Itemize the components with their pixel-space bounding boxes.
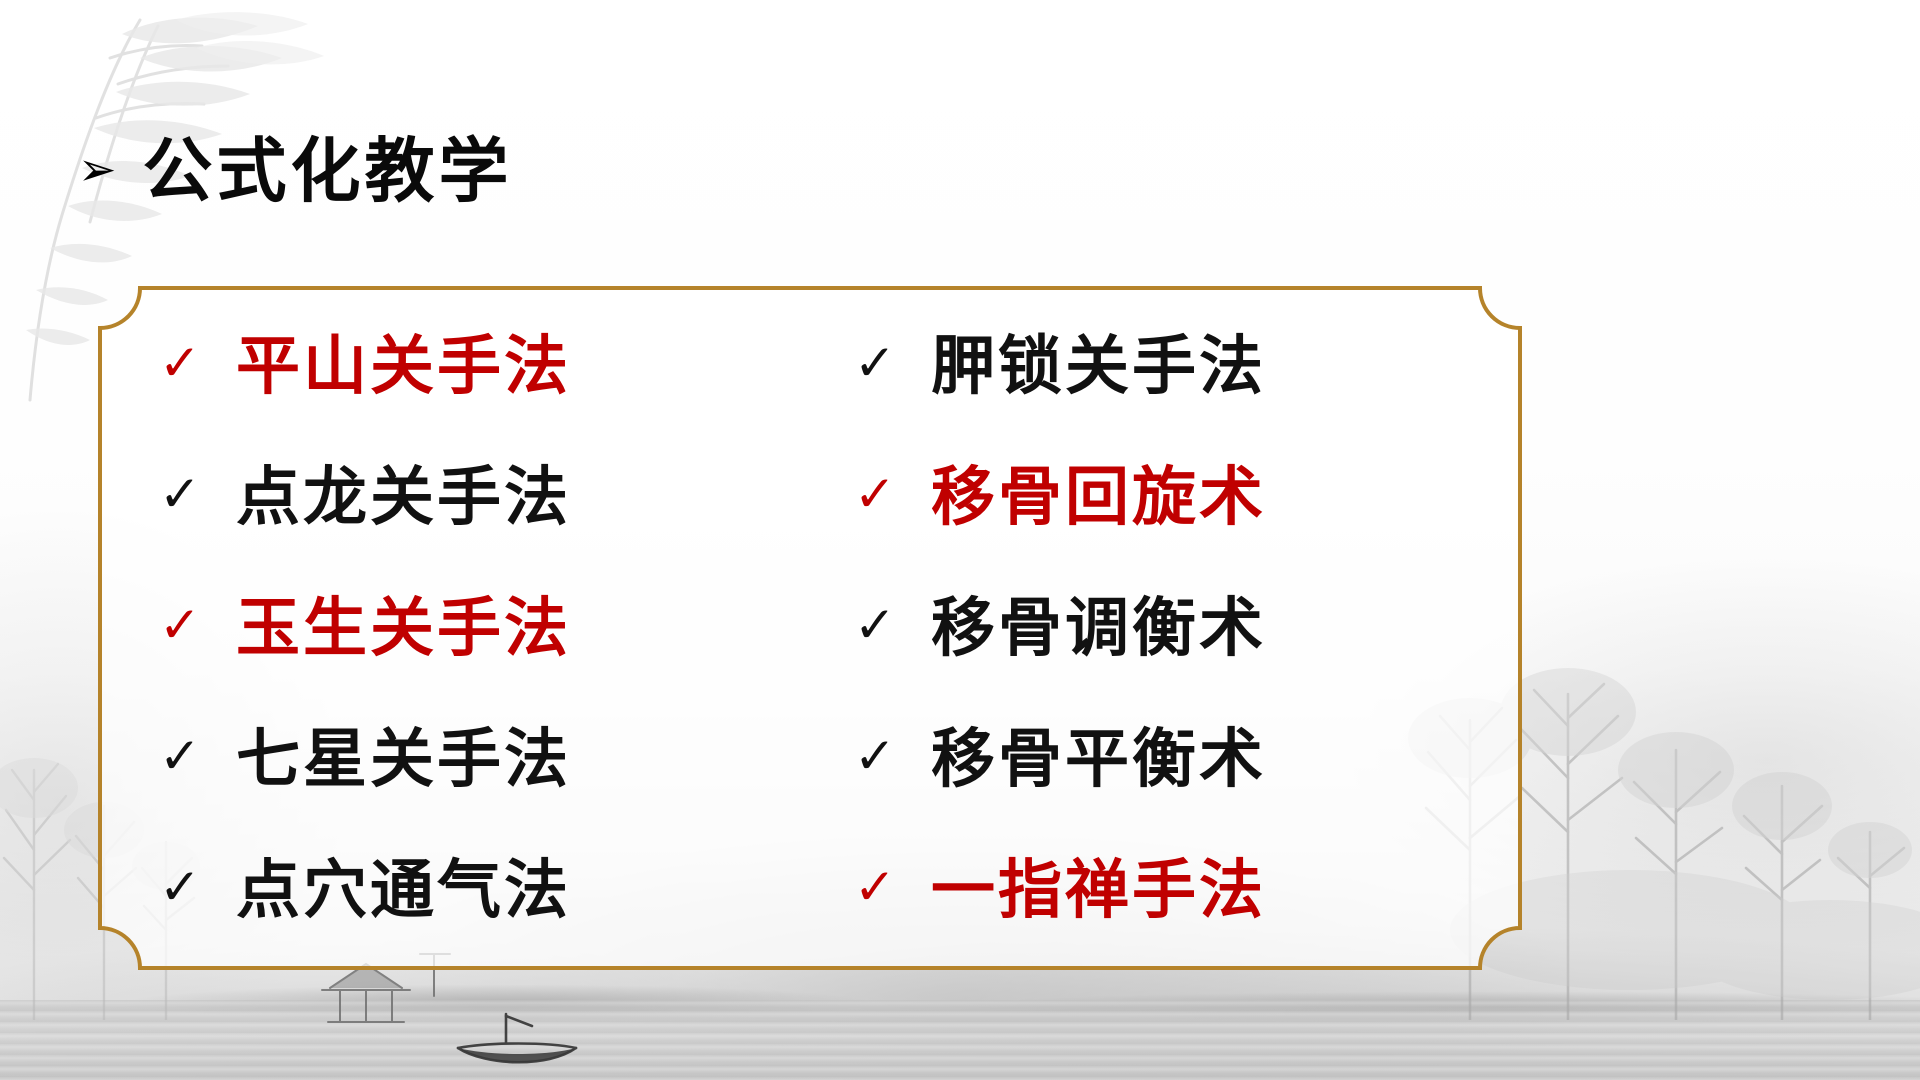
- list-item-label: 玉生关手法: [236, 596, 571, 660]
- checklist-left-column: ✓ 平山关手法 ✓ 点龙关手法 ✓ 玉生关手法 ✓ 七星关手法 ✓: [100, 314, 825, 942]
- check-mark-icon: ✓: [158, 469, 202, 519]
- list-item-label: 七星关手法: [236, 727, 571, 791]
- check-mark-icon: ✓: [158, 338, 202, 388]
- list-item[interactable]: ✓ 胛锁关手法: [853, 314, 1520, 418]
- slide-root: ➢ 公式化教学 ✓ 平山关手法 ✓ 点龙关手法 ✓ 玉生关手法: [0, 0, 1920, 1080]
- check-mark-icon: ✓: [158, 600, 202, 650]
- fishing-boat-icon: [458, 1048, 576, 1062]
- checklist-right-column: ✓ 胛锁关手法 ✓ 移骨回旋术 ✓ 移骨调衡术 ✓ 移骨平衡术 ✓: [825, 314, 1520, 942]
- check-mark-icon: ✓: [853, 469, 897, 519]
- list-item-label: 一指禅手法: [931, 858, 1266, 922]
- list-item[interactable]: ✓ 点龙关手法: [158, 445, 825, 549]
- arrow-bullet-icon: ➢: [78, 146, 117, 192]
- list-item[interactable]: ✓ 点穴通气法: [158, 838, 825, 942]
- check-mark-icon: ✓: [853, 600, 897, 650]
- check-mark-icon: ✓: [853, 862, 897, 912]
- list-item-label: 点穴通气法: [236, 858, 571, 922]
- list-item[interactable]: ✓ 移骨调衡术: [853, 576, 1520, 680]
- list-item-label: 移骨平衡术: [931, 727, 1266, 791]
- list-item-label: 点龙关手法: [236, 465, 571, 529]
- list-item[interactable]: ✓ 平山关手法: [158, 314, 825, 418]
- list-item[interactable]: ✓ 移骨平衡术: [853, 707, 1520, 811]
- list-item[interactable]: ✓ 移骨回旋术: [853, 445, 1520, 549]
- list-item-label: 移骨调衡术: [931, 596, 1266, 660]
- list-item-label: 胛锁关手法: [931, 334, 1266, 398]
- check-mark-icon: ✓: [853, 731, 897, 781]
- page-title: 公式化教学: [143, 136, 513, 206]
- page-title-row: ➢ 公式化教学: [78, 136, 513, 206]
- check-mark-icon: ✓: [158, 731, 202, 781]
- list-item-label: 平山关手法: [236, 334, 571, 398]
- check-mark-icon: ✓: [853, 338, 897, 388]
- list-item-label: 移骨回旋术: [931, 465, 1266, 529]
- list-item[interactable]: ✓ 七星关手法: [158, 707, 825, 811]
- content-panel: ✓ 平山关手法 ✓ 点龙关手法 ✓ 玉生关手法 ✓ 七星关手法 ✓: [100, 288, 1520, 968]
- check-mark-icon: ✓: [158, 862, 202, 912]
- list-item[interactable]: ✓ 一指禅手法: [853, 838, 1520, 942]
- list-item[interactable]: ✓ 玉生关手法: [158, 576, 825, 680]
